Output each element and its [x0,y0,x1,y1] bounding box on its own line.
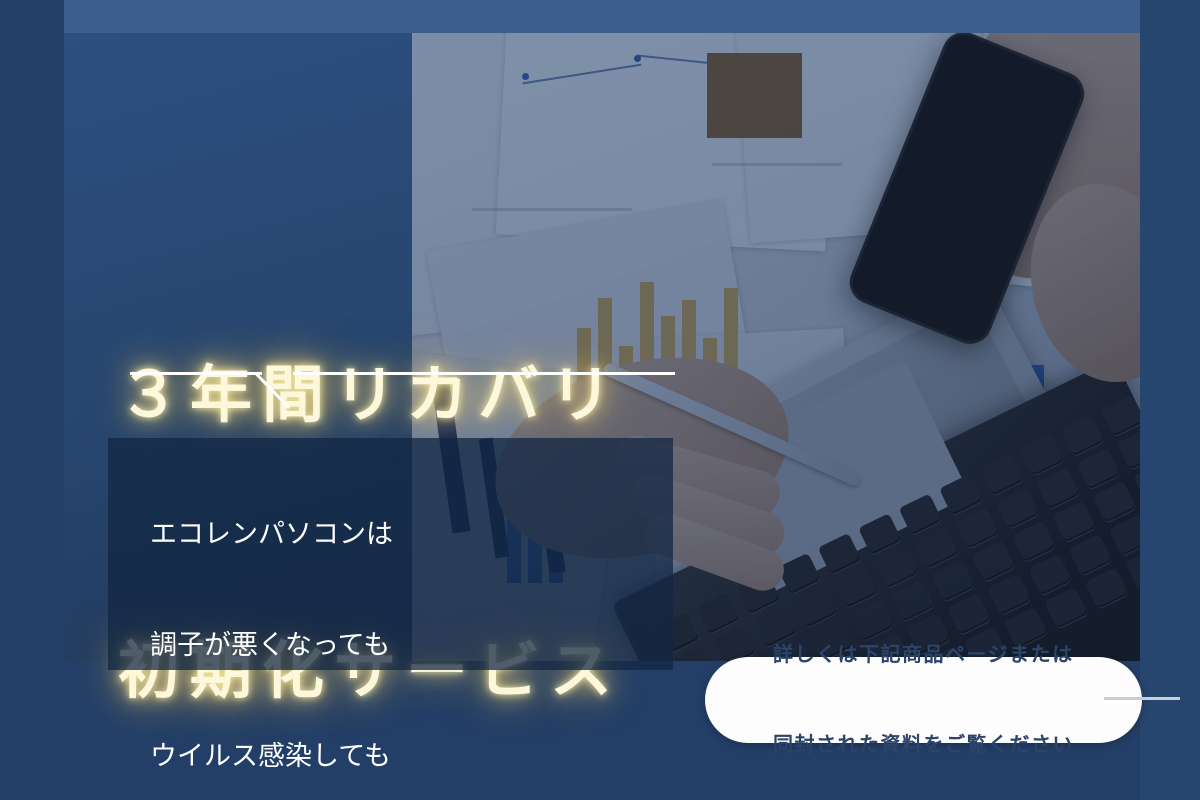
top-accent-band [64,0,1140,33]
body-line-1: エコレンパソコンは [150,516,750,553]
callout-line-2: 同封された資料をご覧ください [773,730,1074,760]
divider-right-segment [293,372,675,375]
promo-banner: ３年間リカバリ 初期化サービス エコレンパソコンは 調子が悪くなっても ウイルス… [0,0,1200,800]
callout-pill: 詳しくは下記商品ページまたは 同封された資料をご覧ください [705,657,1142,743]
divider-left-segment [130,372,262,375]
body-text: エコレンパソコンは 調子が悪くなっても ウイルス感染しても 設定を狂わせてしまっ… [150,442,750,800]
body-line-2: 調子が悪くなっても [150,627,750,664]
callout-trailing-line [1104,697,1180,700]
callout-text: 詳しくは下記商品ページまたは 同封された資料をご覧ください [773,580,1074,800]
body-line-3: ウイルス感染しても [150,738,750,775]
decorative-divider [130,372,675,412]
divider-diagonal-segment [255,372,290,408]
right-margin-strip [1140,0,1200,800]
callout-line-1: 詳しくは下記商品ページまたは [773,640,1074,670]
